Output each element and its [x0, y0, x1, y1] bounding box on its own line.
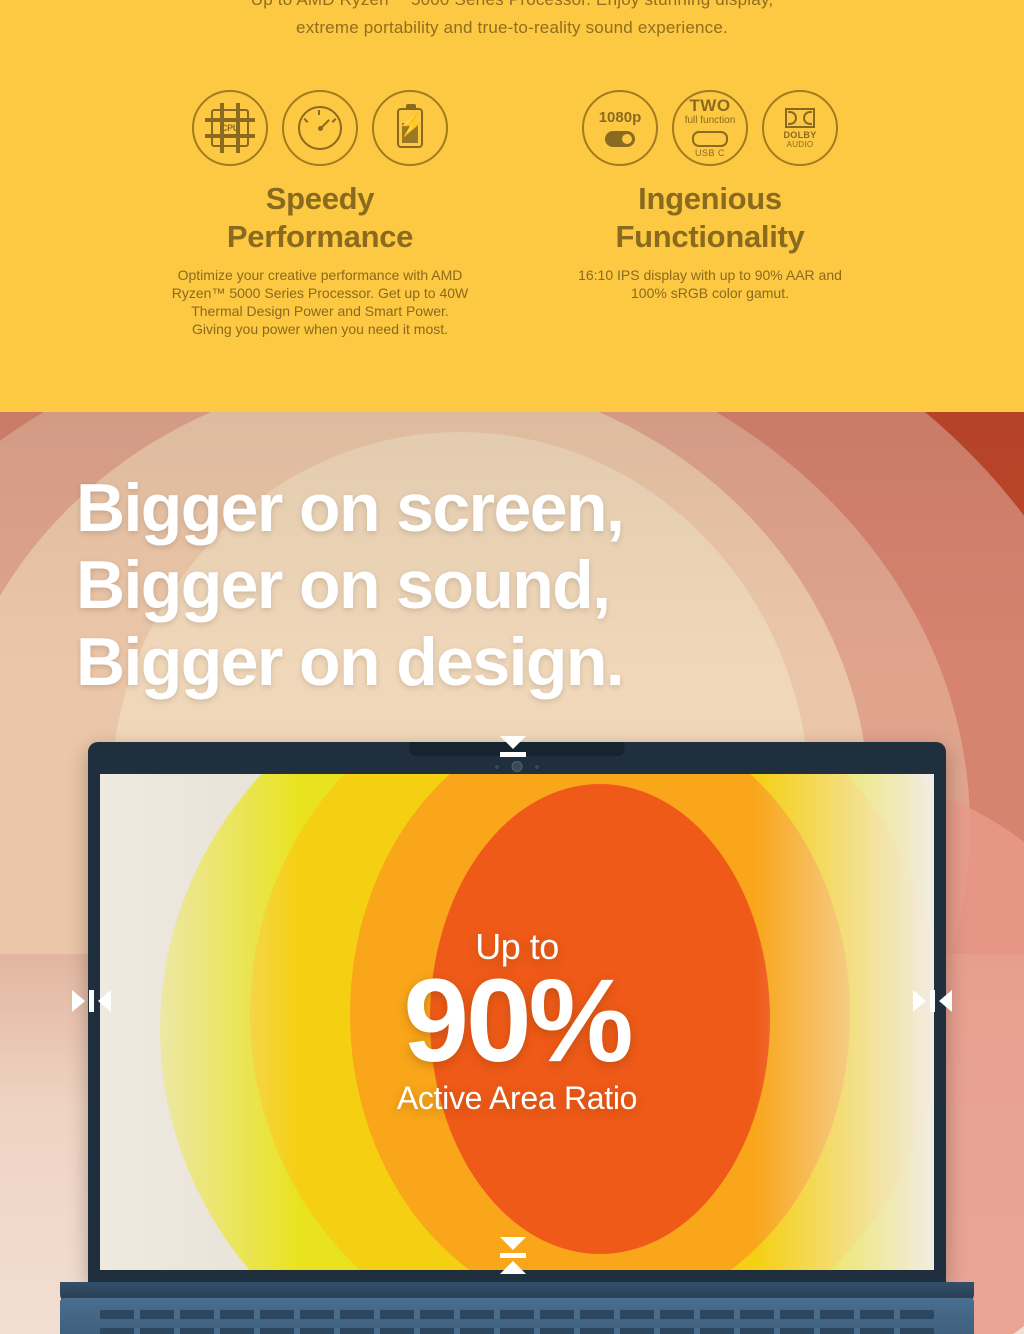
carousel-scroll-up-button[interactable] [500, 1237, 526, 1274]
chevron-down-icon [500, 1237, 526, 1250]
product-page: Up to AMD Ryzen™ 5000 Series Processor. … [0, 0, 1024, 1334]
divider-bar [89, 990, 94, 1012]
speed-gauge-icon [282, 90, 358, 166]
screen-value: 90% [403, 961, 630, 1081]
webcam-icon [512, 761, 523, 772]
usb-c-icon: TWO full function USB C [672, 90, 748, 166]
chevron-left-icon [939, 990, 952, 1012]
feature-title-line-1: Ingenious [520, 180, 900, 218]
feature-columns: CPU ⚡ Speedy [0, 90, 1024, 390]
feature-description: 16:10 IPS display with up to 90% AAR and… [520, 266, 900, 302]
carousel-next-button[interactable] [913, 990, 952, 1012]
battery-charging-icon: ⚡ [372, 90, 448, 166]
laptop-lid: Up to 90% Active Area Ratio [88, 742, 946, 1282]
features-panel: Up to AMD Ryzen™ 5000 Series Processor. … [0, 0, 1024, 412]
webcam-sensor-left-icon [495, 765, 499, 769]
webcam-1080p-icon: 1080p [582, 90, 658, 166]
feature-ingenious-functionality: 1080p TWO full function USB C [520, 90, 900, 302]
usb-c-sub-label: full function [685, 116, 736, 127]
feature-title-line-2: Functionality [520, 218, 900, 256]
chevron-up-icon [500, 1261, 526, 1274]
carousel-scroll-down-button[interactable] [500, 736, 526, 757]
laptop-screen: Up to 90% Active Area Ratio [100, 774, 934, 1270]
feature-title: Speedy Performance [130, 180, 510, 256]
screen-caption: Active Area Ratio [397, 1079, 637, 1117]
carousel-prev-button[interactable] [72, 990, 111, 1012]
hero-title-line-1: Bigger on screen, [76, 470, 976, 547]
chevron-right-icon [913, 990, 926, 1012]
feature-title-line-1: Speedy [130, 180, 510, 218]
usb-c-count-label: TWO [685, 97, 736, 115]
dolby-audio-icon: DOLBY AUDIO [762, 90, 838, 166]
chevron-left-icon [98, 990, 111, 1012]
intro-text: Up to AMD Ryzen™ 5000 Series Processor. … [0, 0, 1024, 42]
feature-title-line-2: Performance [130, 218, 510, 256]
chevron-right-icon [72, 990, 85, 1012]
divider-bar [500, 1253, 526, 1258]
cpu-icon: CPU [192, 90, 268, 166]
feature-description: Optimize your creative performance with … [130, 266, 510, 338]
divider-bar [930, 990, 935, 1012]
dolby-audio-label: AUDIO [784, 140, 817, 149]
chevron-down-icon [500, 736, 526, 749]
divider-bar [500, 752, 526, 757]
dolby-label: DOLBY [784, 130, 817, 140]
screen-callout: Up to 90% Active Area Ratio [100, 774, 934, 1270]
feature-title: Ingenious Functionality [520, 180, 900, 256]
hero-title-line-2: Bigger on sound, [76, 547, 976, 624]
hero-banner: Bigger on screen, Bigger on sound, Bigge… [0, 412, 1024, 1334]
usb-c-port-label: USB C [685, 149, 736, 158]
intro-line-1: Up to AMD Ryzen™ 5000 Series Processor. … [0, 0, 1024, 14]
feature-icon-row: 1080p TWO full function USB C [520, 90, 900, 166]
laptop-image: Up to 90% Active Area Ratio [88, 742, 946, 1302]
laptop-keyboard [60, 1298, 974, 1334]
feature-speedy-performance: CPU ⚡ Speedy [130, 90, 510, 338]
feature-icon-row: CPU ⚡ [130, 90, 510, 166]
webcam-1080p-label: 1080p [599, 110, 642, 125]
hero-title-line-3: Bigger on design. [76, 624, 976, 701]
webcam-sensor-right-icon [535, 765, 539, 769]
intro-line-2: extreme portability and true-to-reality … [0, 14, 1024, 42]
hero-title: Bigger on screen, Bigger on sound, Bigge… [76, 470, 976, 701]
